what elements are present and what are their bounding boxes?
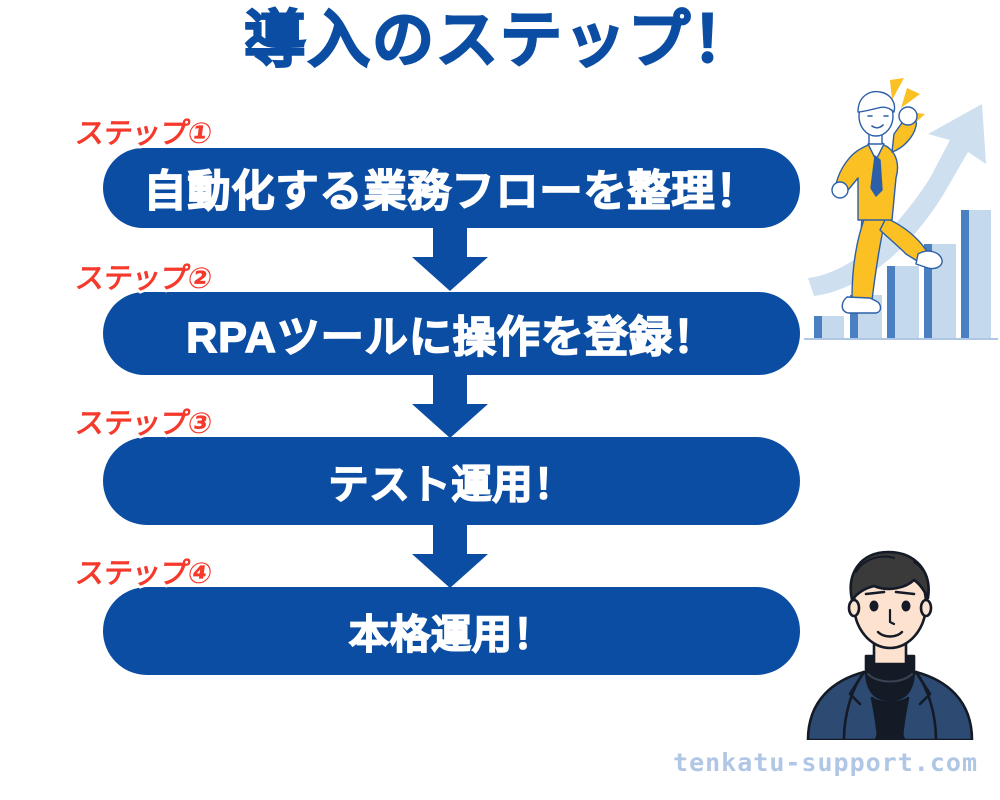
- infographic-canvas: 導入のステップ！: [0, 0, 1000, 800]
- footer-url: tenkatu-support.com: [673, 748, 978, 777]
- step-badge-1: ステップ①: [73, 110, 214, 152]
- step-box-1[interactable]: 自動化する業務フローを整理！: [103, 148, 800, 228]
- avatar: [790, 528, 990, 740]
- step-badge-2: ステップ②: [73, 255, 214, 297]
- step-box-4[interactable]: 本格運用！: [103, 587, 800, 675]
- connector-arrow-3: [390, 525, 510, 589]
- step-box-3[interactable]: テスト運用！: [103, 437, 800, 525]
- step-box-label-2: RPAツールに操作を登録！: [186, 303, 717, 365]
- step-box-label-4: 本格運用！: [349, 602, 554, 660]
- page-title: 導入のステップ！: [0, 8, 1000, 73]
- step-badge-3: ステップ③: [73, 400, 214, 442]
- step-box-label-1: 自動化する業務フローを整理！: [144, 157, 760, 219]
- step-box-label-3: テスト運用！: [329, 452, 575, 510]
- growth-illustration: [800, 68, 1000, 343]
- step-badge-4: ステップ④: [73, 550, 214, 592]
- connector-arrow-1: [390, 228, 510, 292]
- connector-arrow-2: [390, 375, 510, 439]
- step-box-2[interactable]: RPAツールに操作を登録！: [103, 292, 800, 375]
